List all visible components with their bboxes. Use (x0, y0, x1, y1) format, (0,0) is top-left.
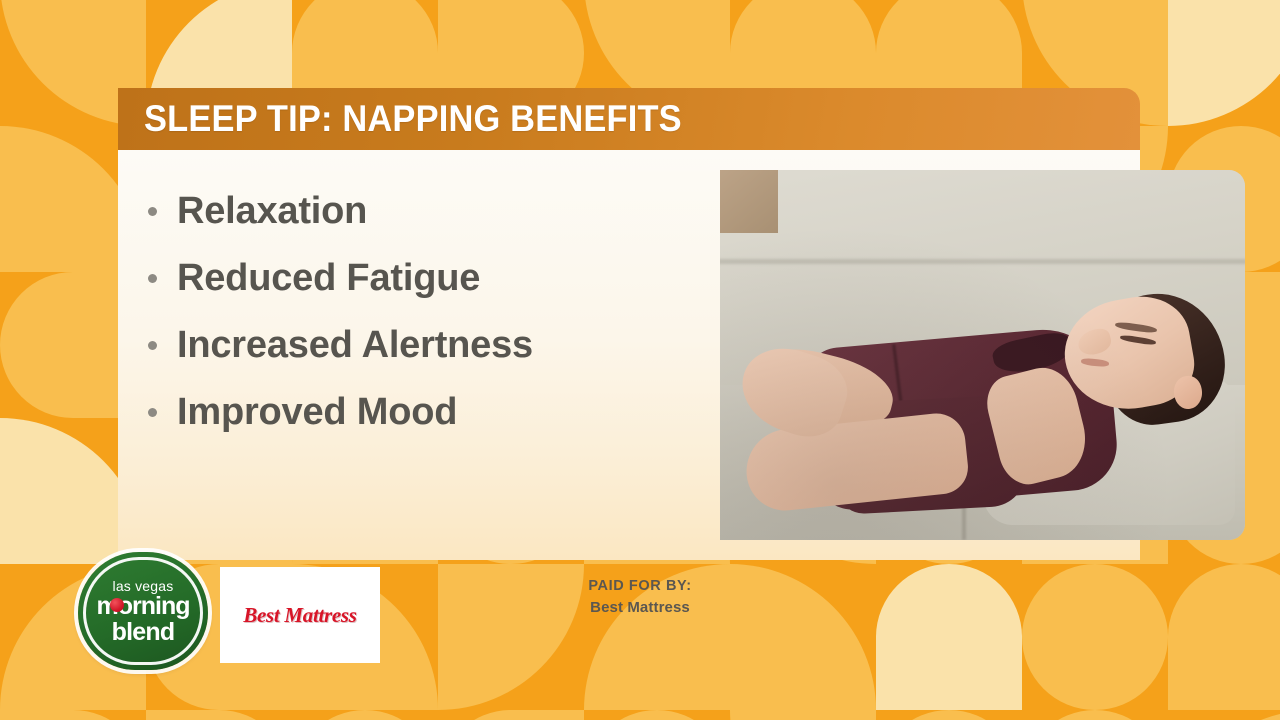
list-item-label: Reduced Fatigue (177, 257, 480, 300)
red-dot-icon (110, 598, 124, 612)
list-item: Relaxation (148, 178, 688, 245)
background-tile (1168, 710, 1280, 720)
background-tile (876, 710, 1022, 720)
bullet-dot-icon (148, 207, 157, 216)
background-tile (438, 710, 584, 720)
bullet-dot-icon (148, 341, 157, 350)
paid-for-by-label: PAID FOR BY: (500, 575, 780, 597)
benefits-list: Relaxation Reduced Fatigue Increased Ale… (148, 178, 688, 446)
list-item-label: Increased Alertness (177, 324, 533, 367)
list-item: Reduced Fatigue (148, 245, 688, 312)
station-logo-line3: blend (112, 619, 175, 645)
background-tile (292, 710, 438, 720)
paid-disclosure: PAID FOR BY: Best Mattress (500, 575, 780, 620)
broadcast-graphic: SLEEP TIP: NAPPING BENEFITS Relaxation R… (0, 0, 1280, 720)
station-logo-line2: morning (97, 594, 190, 619)
background-tile (730, 710, 876, 720)
sofa-seam (720, 259, 1245, 264)
sponsor-logo-text: Best Mattress (243, 603, 356, 628)
background-tile (1168, 0, 1280, 126)
station-logo: las vegas morning blend (78, 552, 208, 670)
background-tile (1022, 564, 1168, 710)
bullet-dot-icon (148, 274, 157, 283)
background-tile (1168, 564, 1280, 710)
page-title: SLEEP TIP: NAPPING BENEFITS (144, 98, 682, 140)
station-logo-inner: las vegas morning blend (83, 557, 203, 665)
sponsor-logo-card: Best Mattress (220, 567, 380, 663)
bullet-dot-icon (148, 408, 157, 417)
wall-corner (720, 170, 778, 233)
background-tile (1022, 710, 1168, 720)
station-logo-line1: las vegas (113, 579, 174, 593)
background-tile (876, 564, 1022, 710)
list-item-label: Relaxation (177, 190, 367, 233)
list-item-label: Improved Mood (177, 391, 457, 434)
napping-photo (720, 170, 1245, 540)
photo-scene (720, 170, 1245, 540)
list-item: Increased Alertness (148, 312, 688, 379)
background-tile (146, 710, 292, 720)
head (1061, 281, 1224, 429)
title-bar: SLEEP TIP: NAPPING BENEFITS (118, 88, 1140, 150)
list-item: Improved Mood (148, 379, 688, 446)
background-tile (0, 710, 146, 720)
paid-for-by-sponsor: Best Mattress (500, 597, 780, 620)
background-tile (584, 710, 730, 720)
